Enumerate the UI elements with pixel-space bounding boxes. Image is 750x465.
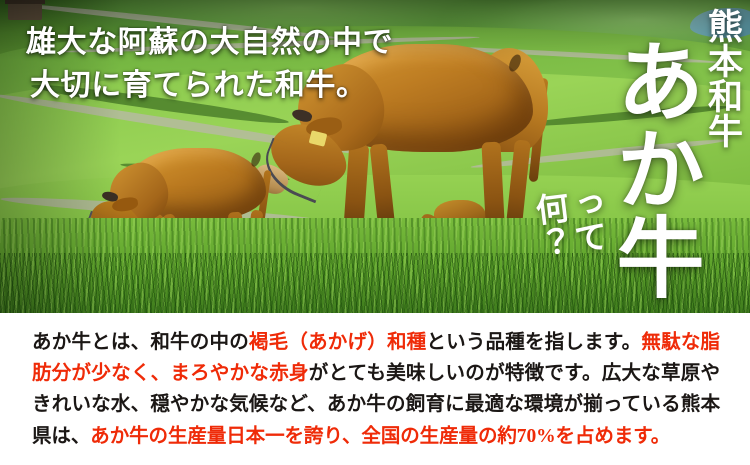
hero-headline: 雄大な阿蘇の大自然の中で 大切に育てられた和牛。: [26, 22, 446, 107]
hero-photo: 雄大な阿蘇の大自然の中で 大切に育てられた和牛。 熊本和牛 あか牛 って何？: [0, 0, 750, 313]
vertical-main-title: あか牛: [608, 36, 694, 300]
cow-marking: [249, 151, 262, 168]
description-highlight: あか牛の生産量日本一を誇り、全国の生産量の約70%を占めます。: [90, 426, 670, 447]
headline-line-1: 雄大な阿蘇の大自然の中で: [26, 22, 446, 65]
vertical-brand-label: 熊本和牛: [704, 8, 740, 148]
description-plain: あか牛とは、和牛の中の: [32, 332, 249, 353]
description-text: あか牛とは、和牛の中の褐毛（あかげ）和種という品種を指します。無駄な脂肪分が少な…: [32, 327, 720, 452]
description-panel: あか牛とは、和牛の中の褐毛（あかげ）和種という品種を指します。無駄な脂肪分が少な…: [0, 313, 750, 465]
headline-line-2: 大切に育てられた和牛。: [26, 65, 446, 108]
description-plain: という品種を指します。: [426, 332, 641, 353]
akaushi-promo-banner: 雄大な阿蘇の大自然の中で 大切に育てられた和牛。 熊本和牛 あか牛 って何？ あ…: [0, 0, 750, 465]
vertical-question-label: って何？: [529, 186, 614, 313]
description-highlight: 褐毛（あかげ）和種: [249, 332, 426, 353]
